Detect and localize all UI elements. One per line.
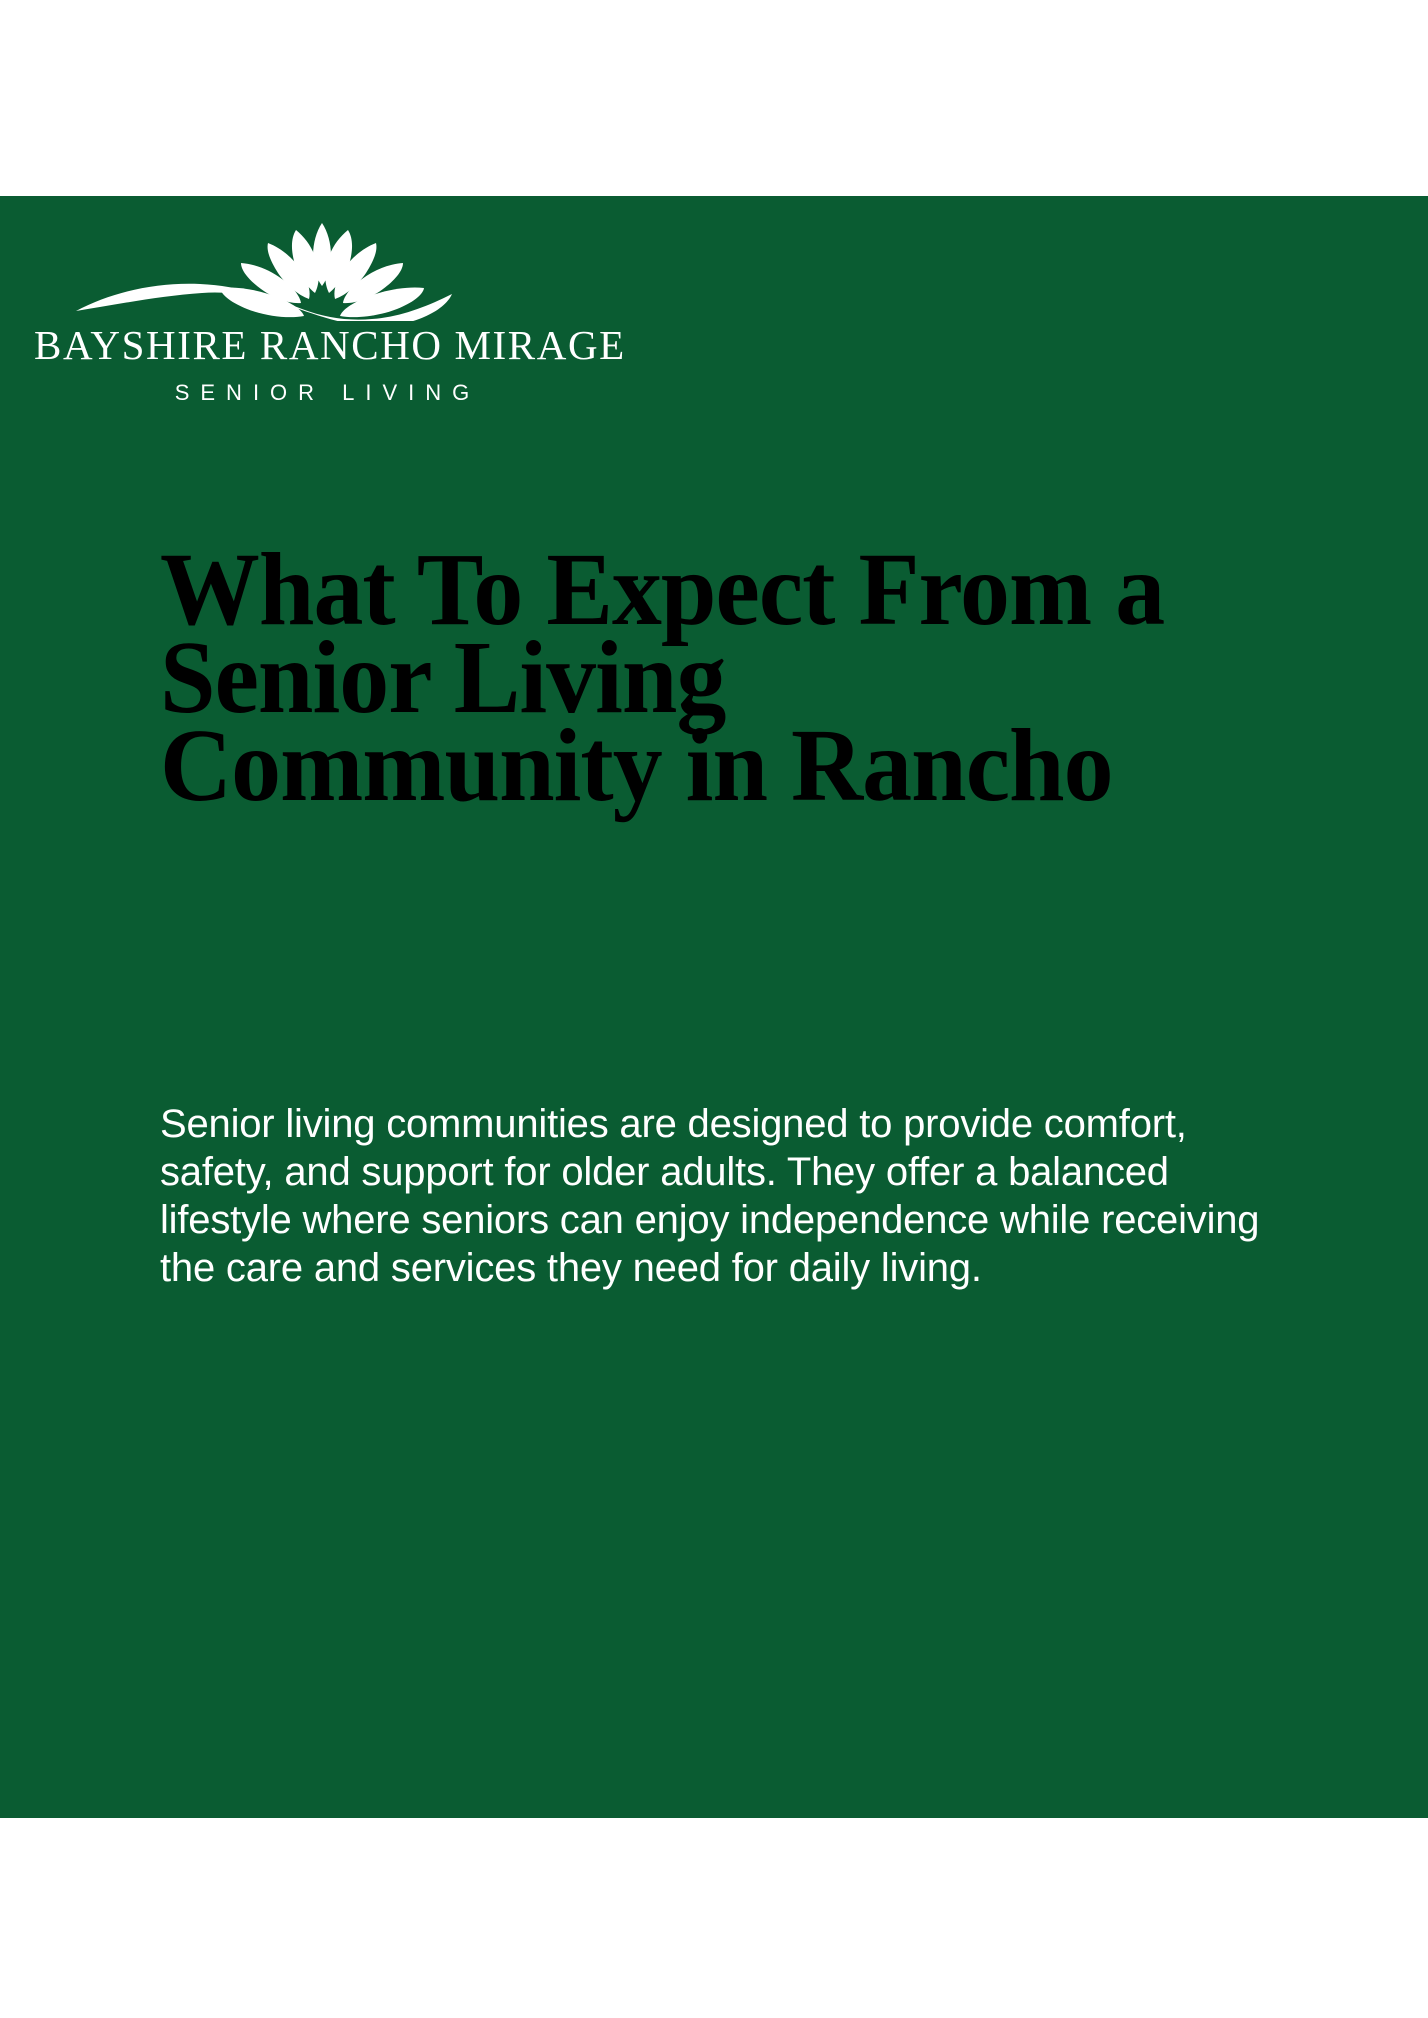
lotus-flower-icon (34, 216, 654, 321)
intro-paragraph-line-2: safety, and support for older adults. Th… (160, 1148, 1428, 1196)
intro-paragraph: Senior living communities are designed t… (160, 1100, 1428, 1292)
page-title: What To Expect From a Senior Living Comm… (160, 546, 1428, 810)
intro-paragraph-line-4: the care and services they need for dail… (160, 1244, 1428, 1292)
logo-wordmark: BAYSHIRE RANCHO MIRAGE (34, 325, 610, 366)
brand-logo[interactable]: BAYSHIRE RANCHO MIRAGE SENIOR LIVING (34, 216, 654, 404)
page-root: BAYSHIRE RANCHO MIRAGE SENIOR LIVING Wha… (0, 0, 1428, 2018)
page-title-line-3: Community in Rancho (160, 722, 1428, 810)
intro-paragraph-line-3: lifestyle where seniors can enjoy indepe… (160, 1196, 1428, 1244)
intro-paragraph-line-1: Senior living communities are designed t… (160, 1100, 1428, 1148)
hero-card: BAYSHIRE RANCHO MIRAGE SENIOR LIVING Wha… (0, 196, 1428, 1818)
logo-subwordmark: SENIOR LIVING (34, 382, 610, 404)
